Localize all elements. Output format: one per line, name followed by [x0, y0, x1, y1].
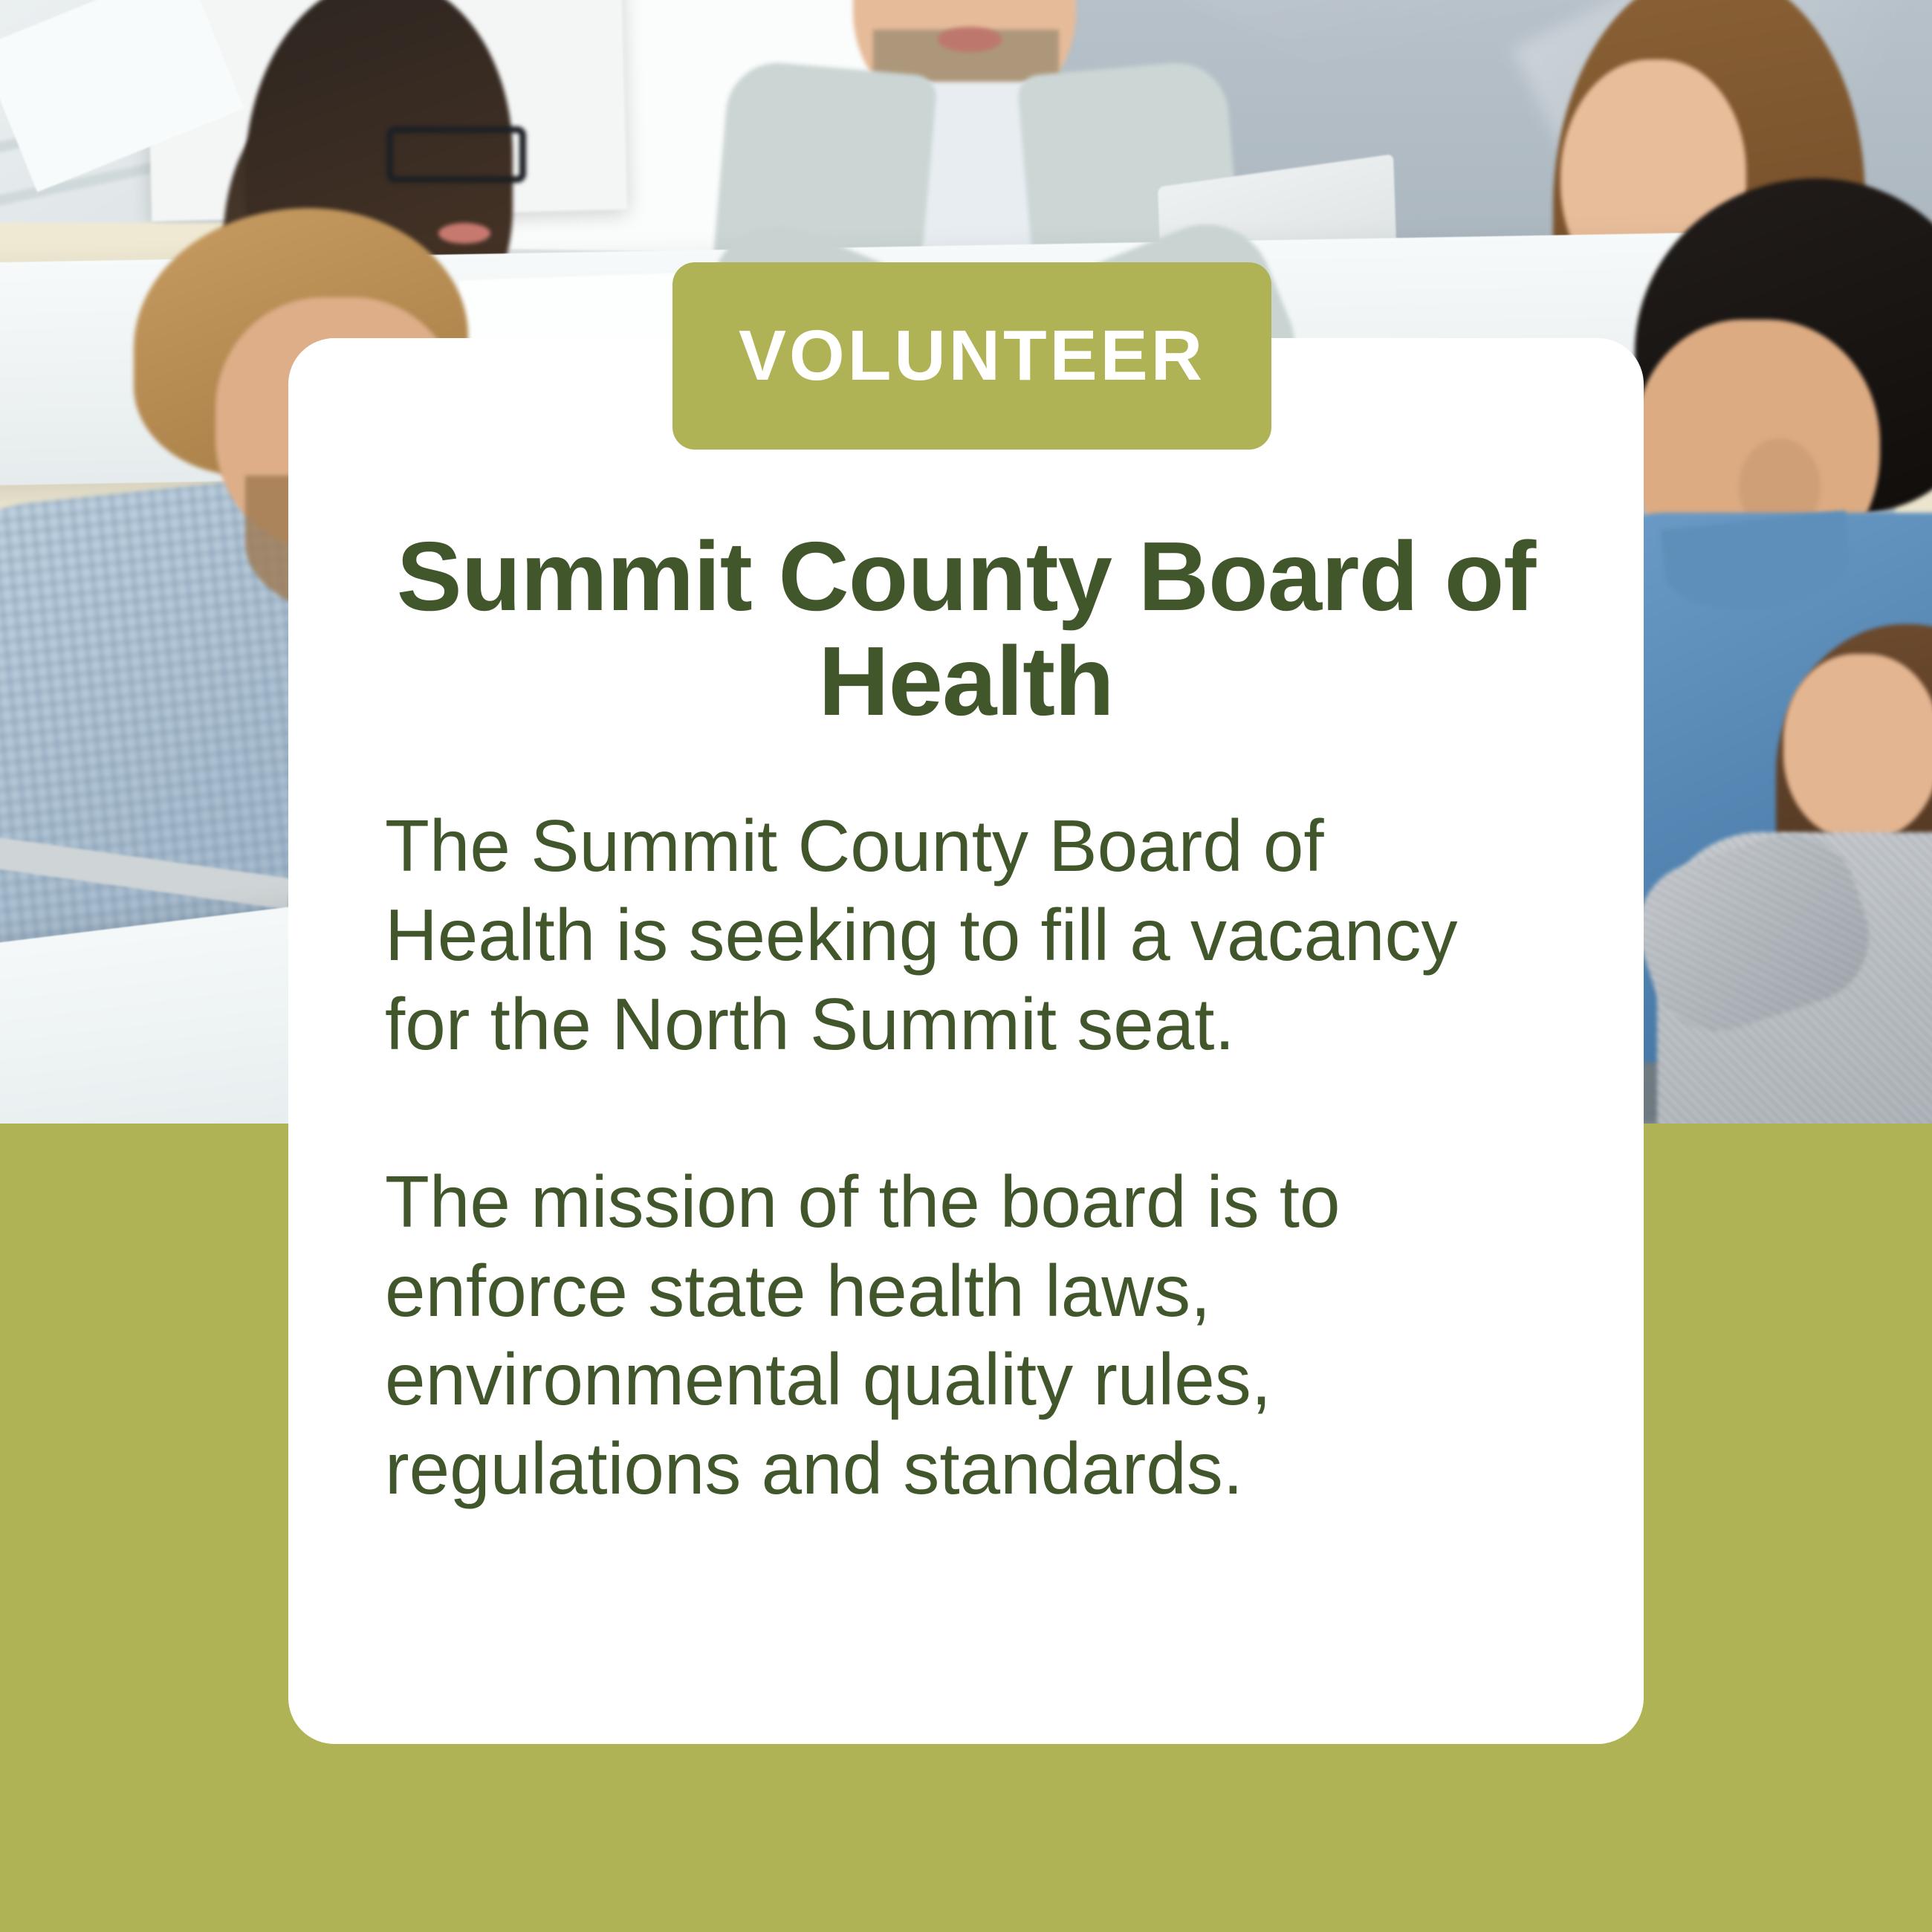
eyeglasses: [386, 126, 526, 183]
content-card-inner: Summit County Board of Health The Summit…: [288, 338, 1644, 1744]
body-paragraph-1: The Summit County Board of Health is see…: [385, 802, 1547, 1069]
volunteer-badge-label: VOLUNTEER: [739, 320, 1205, 392]
volunteer-badge: VOLUNTEER: [672, 262, 1271, 450]
content-card: Summit County Board of Health The Summit…: [288, 338, 1644, 1744]
person-sweater-woman-face: [1783, 654, 1932, 840]
body-paragraph-2: The mission of the board is to enforce s…: [385, 1158, 1547, 1513]
page-title: Summit County Board of Health: [385, 524, 1547, 733]
person-glasses-woman-mouth: [438, 223, 490, 244]
poster-canvas: VOLUNTEER Summit County Board of Health …: [0, 0, 1932, 1932]
person-center-man-mouth: [938, 27, 1002, 52]
